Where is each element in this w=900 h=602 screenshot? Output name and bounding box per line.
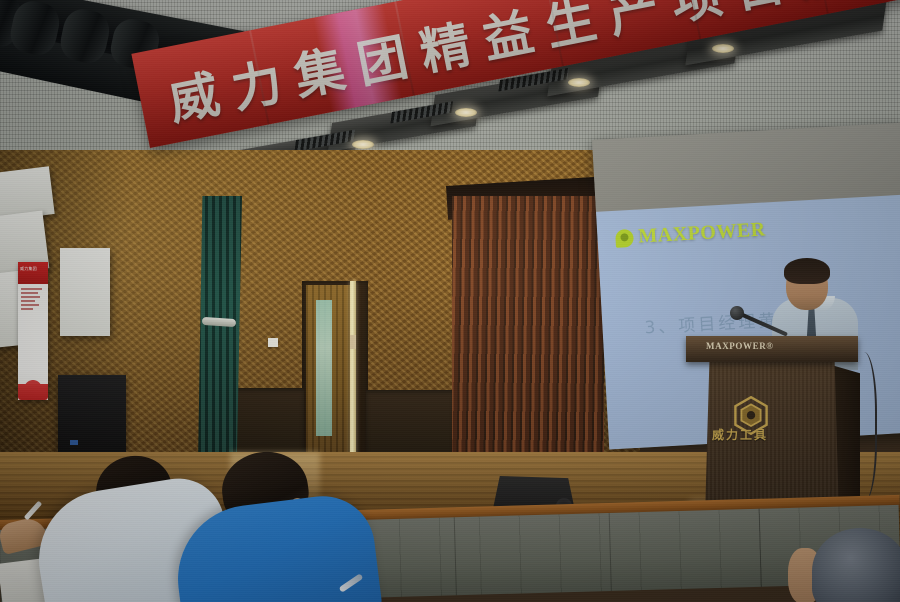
stage-door-glass-panel: [316, 300, 332, 436]
stage-curtain-green: [198, 196, 242, 466]
rollup-banner: 威力集团: [18, 262, 48, 400]
rollup-banner-header: 威力集团: [18, 262, 48, 284]
stage-door-post: [350, 281, 356, 461]
maxpower-mark-icon: [615, 228, 634, 247]
rollup-banner-title: 威力集团: [20, 266, 46, 271]
rollup-banner-body: [21, 288, 45, 312]
downlight-icon: [568, 78, 590, 87]
stage-wainscot-panel: [228, 388, 304, 460]
podium-brand-cn: 威力工具: [712, 426, 768, 443]
downlight-icon: [455, 108, 477, 117]
podium-brand-label: MAXPOWER®: [706, 341, 774, 351]
microphone-icon: [730, 306, 744, 320]
wall-socket-icon: [268, 338, 278, 347]
speaker-led-icon: [70, 440, 78, 445]
downlight-icon: [712, 44, 734, 53]
conference-hall-photo: 威力集团 MAXPOWER 3、项目经理黄 发言: [0, 0, 900, 602]
speaker-hair: [784, 258, 830, 284]
wall-panel: [60, 248, 110, 336]
door-lock-icon[interactable]: [350, 335, 356, 349]
downlight-icon: [352, 140, 374, 149]
pa-speaker-cabinet: [58, 375, 126, 459]
stage-curtain-brown: [452, 196, 604, 471]
rollup-banner-footer: [18, 384, 48, 400]
